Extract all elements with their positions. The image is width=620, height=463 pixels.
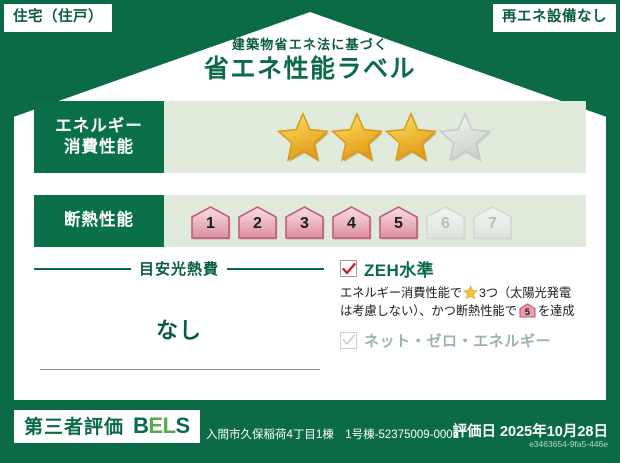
star-filled-icon (277, 111, 329, 163)
zeh-panel: ZEH水準 エネルギー消費性能で 3つ（太陽光発電 は考慮しない）、かつ断熱性能… (340, 256, 586, 351)
bels-letter-l: L (163, 413, 176, 438)
energy-performance-label: エネルギー 消費性能 (34, 101, 164, 173)
insulation-level-2: 2 (235, 202, 280, 240)
badge-renewable-energy: 再エネ設備なし (493, 4, 616, 32)
utility-cost-title: 目安光熱費 (139, 258, 219, 279)
bels-letter-e: E (148, 413, 162, 438)
insulation-level-number: 7 (488, 216, 497, 240)
zeh-header: ZEH水準 (340, 256, 586, 281)
star-filled-icon (331, 111, 383, 163)
insulation-label-text: 断熱性能 (64, 210, 134, 231)
zeh-description: エネルギー消費性能で 3つ（太陽光発電 は考慮しない）、かつ断熱性能で 5 を達… (340, 285, 586, 321)
zeh-desc-part3: を達成 (538, 304, 575, 318)
insulation-level-scale: 1234567 (164, 195, 586, 247)
net-zero-energy-row: ネット・ゼロ・エネルギー (340, 330, 586, 351)
insulation-level-number: 1 (206, 216, 215, 240)
insulation-level-number: 4 (347, 216, 356, 240)
insulation-level-7: 7 (470, 202, 515, 240)
inline-level-chip: 5 (519, 303, 536, 318)
property-address: 入間市久保稲荷4丁目1棟 1号棟-52375009-0001 (206, 426, 459, 442)
evaluation-date: 評価日 2025年10月28日 (452, 420, 608, 441)
bels-letter-s: S (176, 413, 190, 438)
net-zero-energy-label: ネット・ゼロ・エネルギー (364, 330, 551, 351)
insulation-level-1: 1 (188, 202, 233, 240)
check-icon (342, 262, 356, 276)
footer: 第三者評価 BELS 入間市久保稲荷4丁目1棟 1号棟-52375009-000… (0, 405, 620, 463)
star-empty-icon (439, 111, 491, 163)
star-filled-icon (385, 111, 437, 163)
star-rating (164, 101, 586, 173)
utility-cost-header: 目安光熱費 (34, 256, 324, 279)
rule-right (227, 268, 324, 270)
lower-section: 目安光熱費 なし ZEH水準 エネルギー消費性能で 3つ（太陽光発電 は考慮しな… (34, 256, 586, 388)
energy-performance-row: エネルギー 消費性能 (34, 101, 586, 173)
check-icon-faint (342, 333, 356, 347)
utility-cost-panel: 目安光熱費 なし (34, 256, 324, 388)
insulation-level-number: 2 (253, 216, 262, 240)
zeh-desc-part2: は考慮しない）、かつ断熱性能で (340, 304, 517, 318)
rule-left (34, 268, 131, 270)
zeh-desc-part1: エネルギー消費性能で (340, 286, 462, 300)
utility-cost-divider (40, 369, 320, 371)
bels-logo-plate: 第三者評価 BELS (14, 410, 200, 443)
bels-wordmark: BELS (133, 415, 190, 437)
net-zero-energy-checkbox[interactable] (340, 332, 357, 349)
third-party-evaluation-label: 第三者評価 (24, 418, 124, 437)
insulation-level-6: 6 (423, 202, 468, 240)
utility-cost-value: なし (34, 313, 324, 345)
inline-chip-number: 5 (519, 308, 536, 318)
zeh-title: ZEH水準 (364, 256, 434, 281)
insulation-level-number: 3 (300, 216, 309, 240)
insulation-level-5: 5 (376, 202, 421, 240)
badge-building-type: 住宅（住戸） (4, 4, 112, 32)
zeh-checkbox[interactable] (340, 260, 357, 277)
insulation-level-3: 3 (282, 202, 327, 240)
inline-star-icon (463, 285, 478, 300)
insulation-performance-label: 断熱性能 (34, 195, 164, 247)
insulation-level-number: 6 (441, 216, 450, 240)
insulation-performance-row: 断熱性能 1234567 (34, 195, 586, 247)
insulation-level-number: 5 (394, 216, 403, 240)
certificate-id: e3463654-9fa5-446e (529, 439, 608, 449)
insulation-level-4: 4 (329, 202, 374, 240)
energy-label-line2: 消費性能 (64, 137, 134, 158)
bels-letter-b: B (133, 413, 148, 438)
zeh-desc-starcount: 3つ（太陽光発電 (479, 286, 571, 300)
bels-energy-label: 住宅（住戸） 再エネ設備なし 建築物省エネ法に基づく 省エネ性能ラベル エネルギ… (0, 0, 620, 463)
energy-label-line1: エネルギー (55, 116, 143, 137)
